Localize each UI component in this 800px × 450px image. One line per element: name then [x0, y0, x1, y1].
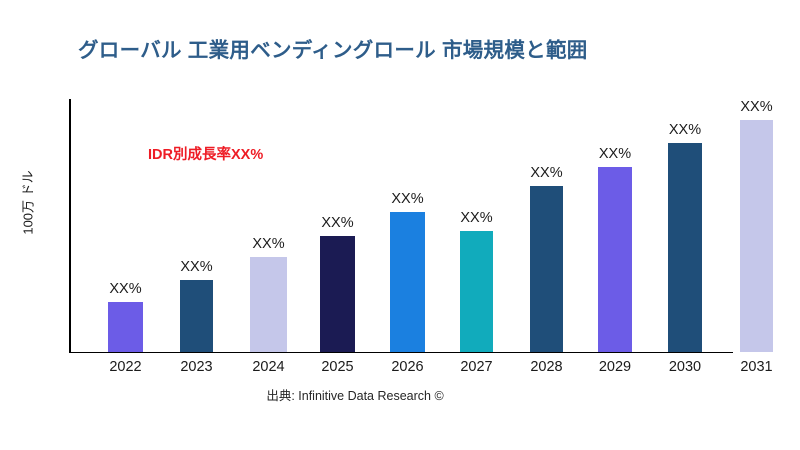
x-axis-tick-2026: 2026	[390, 359, 425, 375]
bar-value-label: XX%	[740, 99, 773, 115]
bar-group-2030: XX%	[668, 0, 702, 352]
x-axis-tick-2025: 2025	[320, 359, 355, 375]
x-axis-tick-2031: 2031	[740, 359, 773, 375]
bar-value-label: XX%	[108, 281, 143, 297]
bar-value-label: XX%	[320, 215, 355, 231]
bar[interactable]	[108, 302, 143, 352]
bar-group-2027: XX%	[460, 0, 493, 352]
plot-area: XX%2022XX%2023XX%2024XX%2025XX%2026XX%20…	[0, 0, 800, 450]
bar[interactable]	[320, 236, 355, 352]
x-axis-tick-2022: 2022	[108, 359, 143, 375]
bar-value-label: XX%	[668, 122, 702, 138]
bar-value-label: XX%	[250, 236, 287, 252]
bar[interactable]	[460, 231, 493, 352]
bar-group-2031: XX%	[740, 0, 773, 352]
bar-value-label: XX%	[460, 210, 493, 226]
chart-container: グローバル 工業用ベンディングロール 市場規模と範囲 100万 ドル IDR別成…	[0, 0, 800, 450]
bar-group-2029: XX%	[598, 0, 632, 352]
bar[interactable]	[598, 167, 632, 352]
bar[interactable]	[668, 143, 702, 352]
x-axis-tick-2028: 2028	[530, 359, 563, 375]
x-axis-tick-2024: 2024	[250, 359, 287, 375]
x-axis-tick-2029: 2029	[598, 359, 632, 375]
x-axis-tick-2023: 2023	[180, 359, 213, 375]
source-caption: 出典: Infinitive Data Research ©	[0, 385, 710, 404]
bar[interactable]	[250, 257, 287, 352]
bar-group-2028: XX%	[530, 0, 563, 352]
bar-group-2023: XX%	[180, 0, 213, 352]
bar[interactable]	[180, 280, 213, 352]
bar[interactable]	[530, 186, 563, 352]
bar-group-2024: XX%	[250, 0, 287, 352]
bar[interactable]	[740, 120, 773, 352]
bar-value-label: XX%	[390, 191, 425, 207]
bar-value-label: XX%	[598, 146, 632, 162]
x-axis-tick-2030: 2030	[668, 359, 702, 375]
bar-value-label: XX%	[180, 259, 213, 275]
x-axis-tick-2027: 2027	[460, 359, 493, 375]
bar-value-label: XX%	[530, 165, 563, 181]
bar-group-2026: XX%	[390, 0, 425, 352]
bar-group-2025: XX%	[320, 0, 355, 352]
bar[interactable]	[390, 212, 425, 352]
bar-group-2022: XX%	[108, 0, 143, 352]
